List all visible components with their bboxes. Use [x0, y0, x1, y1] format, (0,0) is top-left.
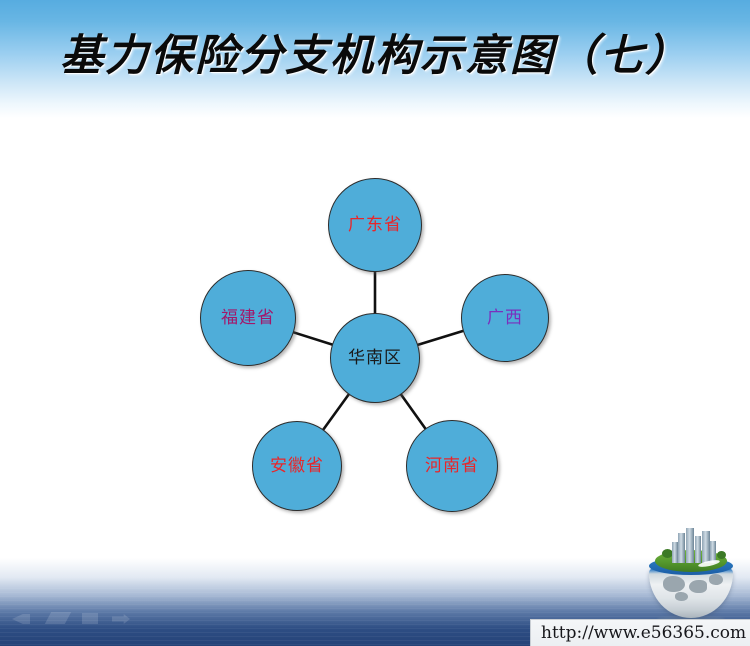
earth-city-globe-icon	[645, 528, 737, 620]
diagram-link-center-henan	[400, 393, 426, 430]
building-icon	[695, 536, 701, 563]
slide-canvas: 基力保险分支机构示意图（七） 广东省福建省广西安徽省河南省华南区 http:/	[0, 0, 750, 646]
ocean-ghost-shape	[82, 613, 98, 624]
diagram-node-anhui[interactable]: 安徽省	[252, 421, 342, 511]
building-icon	[686, 528, 694, 563]
node-label-guangdong: 广东省	[348, 217, 402, 234]
diagram-node-guangdong[interactable]: 广东省	[328, 178, 422, 272]
globe-landmass	[675, 592, 688, 601]
diagram-node-henan[interactable]: 河南省	[406, 420, 498, 512]
globe-landmass	[709, 574, 723, 585]
org-diagram: 广东省福建省广西安徽省河南省华南区	[0, 0, 750, 646]
node-label-fujian: 福建省	[221, 310, 275, 327]
node-label-anhui: 安徽省	[270, 458, 324, 475]
globe-landmass	[663, 576, 685, 592]
diagram-center-node-center[interactable]: 华南区	[330, 313, 420, 403]
node-label-henan: 河南省	[425, 458, 479, 475]
node-label-guangxi: 广西	[487, 310, 523, 327]
diagram-link-center-guangxi	[416, 330, 465, 345]
globe-landmass	[689, 580, 707, 593]
node-label-center: 华南区	[348, 350, 402, 367]
diagram-link-center-anhui	[322, 393, 350, 431]
watermark-url-text: http://www.e56365.com	[531, 623, 746, 643]
watermark-url-box: http://www.e56365.com	[530, 619, 750, 646]
building-icon	[678, 533, 685, 563]
tree-icon	[717, 551, 726, 559]
diagram-node-guangxi[interactable]: 广西	[461, 274, 549, 362]
building-icon	[702, 531, 710, 563]
diagram-node-fujian[interactable]: 福建省	[200, 270, 296, 366]
diagram-link-center-fujian	[292, 332, 334, 345]
